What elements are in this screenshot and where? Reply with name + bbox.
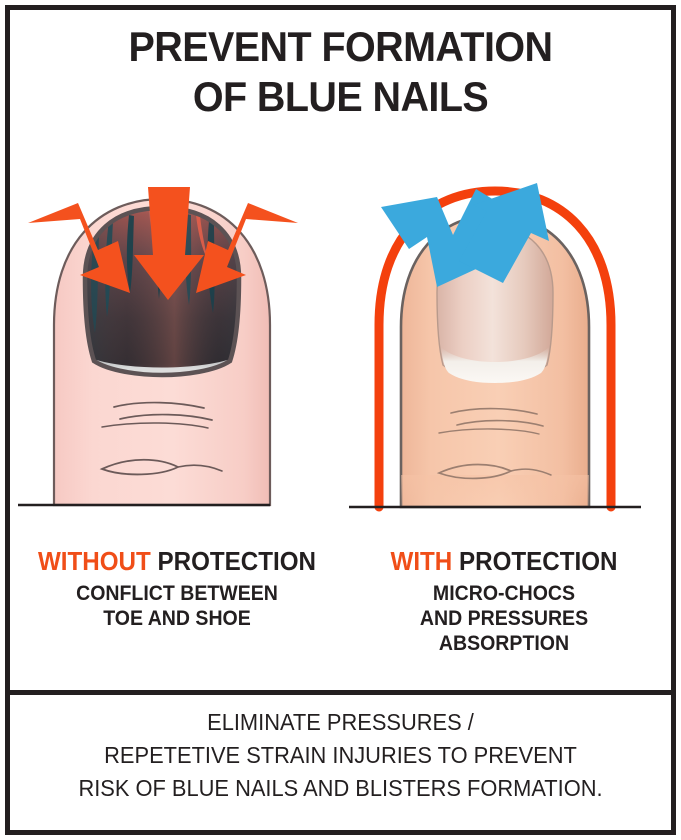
- caption-sub-right-line-2: AND PRESSURES: [349, 606, 660, 631]
- caption-sub-left-line-2: TOE AND SHOE: [22, 606, 333, 631]
- caption-without-protection: WITHOUT PROTECTION CONFLICT BETWEEN TOE …: [10, 545, 344, 631]
- infographic-poster: PREVENT FORMATION OF BLUE NAILS: [0, 0, 681, 840]
- caption-heading-rest-left: PROTECTION: [151, 546, 316, 576]
- caption-sub-right: MICRO-CHOCS AND PRESSURES ABSORPTION: [349, 581, 660, 656]
- footer-line-2: REPETETIVE STRAIN INJURIES TO PREVENT: [27, 739, 655, 772]
- illustration-with-protection: [341, 175, 671, 540]
- caption-sub-right-line-3: ABSORPTION: [349, 631, 660, 656]
- footer-line-3: RISK OF BLUE NAILS AND BLISTERS FORMATIO…: [27, 772, 655, 805]
- caption-sub-left: CONFLICT BETWEEN TOE AND SHOE: [22, 581, 333, 631]
- illustration-row: [10, 175, 671, 540]
- footer-line-1: ELIMINATE PRESSURES /: [27, 706, 655, 739]
- caption-with-protection: WITH PROTECTION MICRO-CHOCS AND PRESSURE…: [337, 545, 671, 656]
- illustration-without-protection: [10, 175, 340, 540]
- caption-highlight-left: WITHOUT: [38, 546, 151, 576]
- footer-message: ELIMINATE PRESSURES / REPETETIVE STRAIN …: [10, 706, 671, 805]
- caption-row: WITHOUT PROTECTION CONFLICT BETWEEN TOE …: [10, 545, 671, 685]
- toe-base-shade: [401, 475, 589, 507]
- caption-heading-right: WITH PROTECTION: [349, 545, 660, 577]
- panel-divider: [10, 690, 671, 695]
- caption-heading-rest-right: PROTECTION: [452, 546, 617, 576]
- title-line-2: OF BLUE NAILS: [30, 72, 651, 122]
- title-line-1: PREVENT FORMATION: [30, 22, 651, 72]
- page-title: PREVENT FORMATION OF BLUE NAILS: [10, 22, 671, 122]
- caption-sub-left-line-1: CONFLICT BETWEEN: [22, 581, 333, 606]
- caption-heading-left: WITHOUT PROTECTION: [22, 545, 333, 577]
- caption-highlight-right: WITH: [390, 546, 452, 576]
- caption-sub-right-line-1: MICRO-CHOCS: [349, 581, 660, 606]
